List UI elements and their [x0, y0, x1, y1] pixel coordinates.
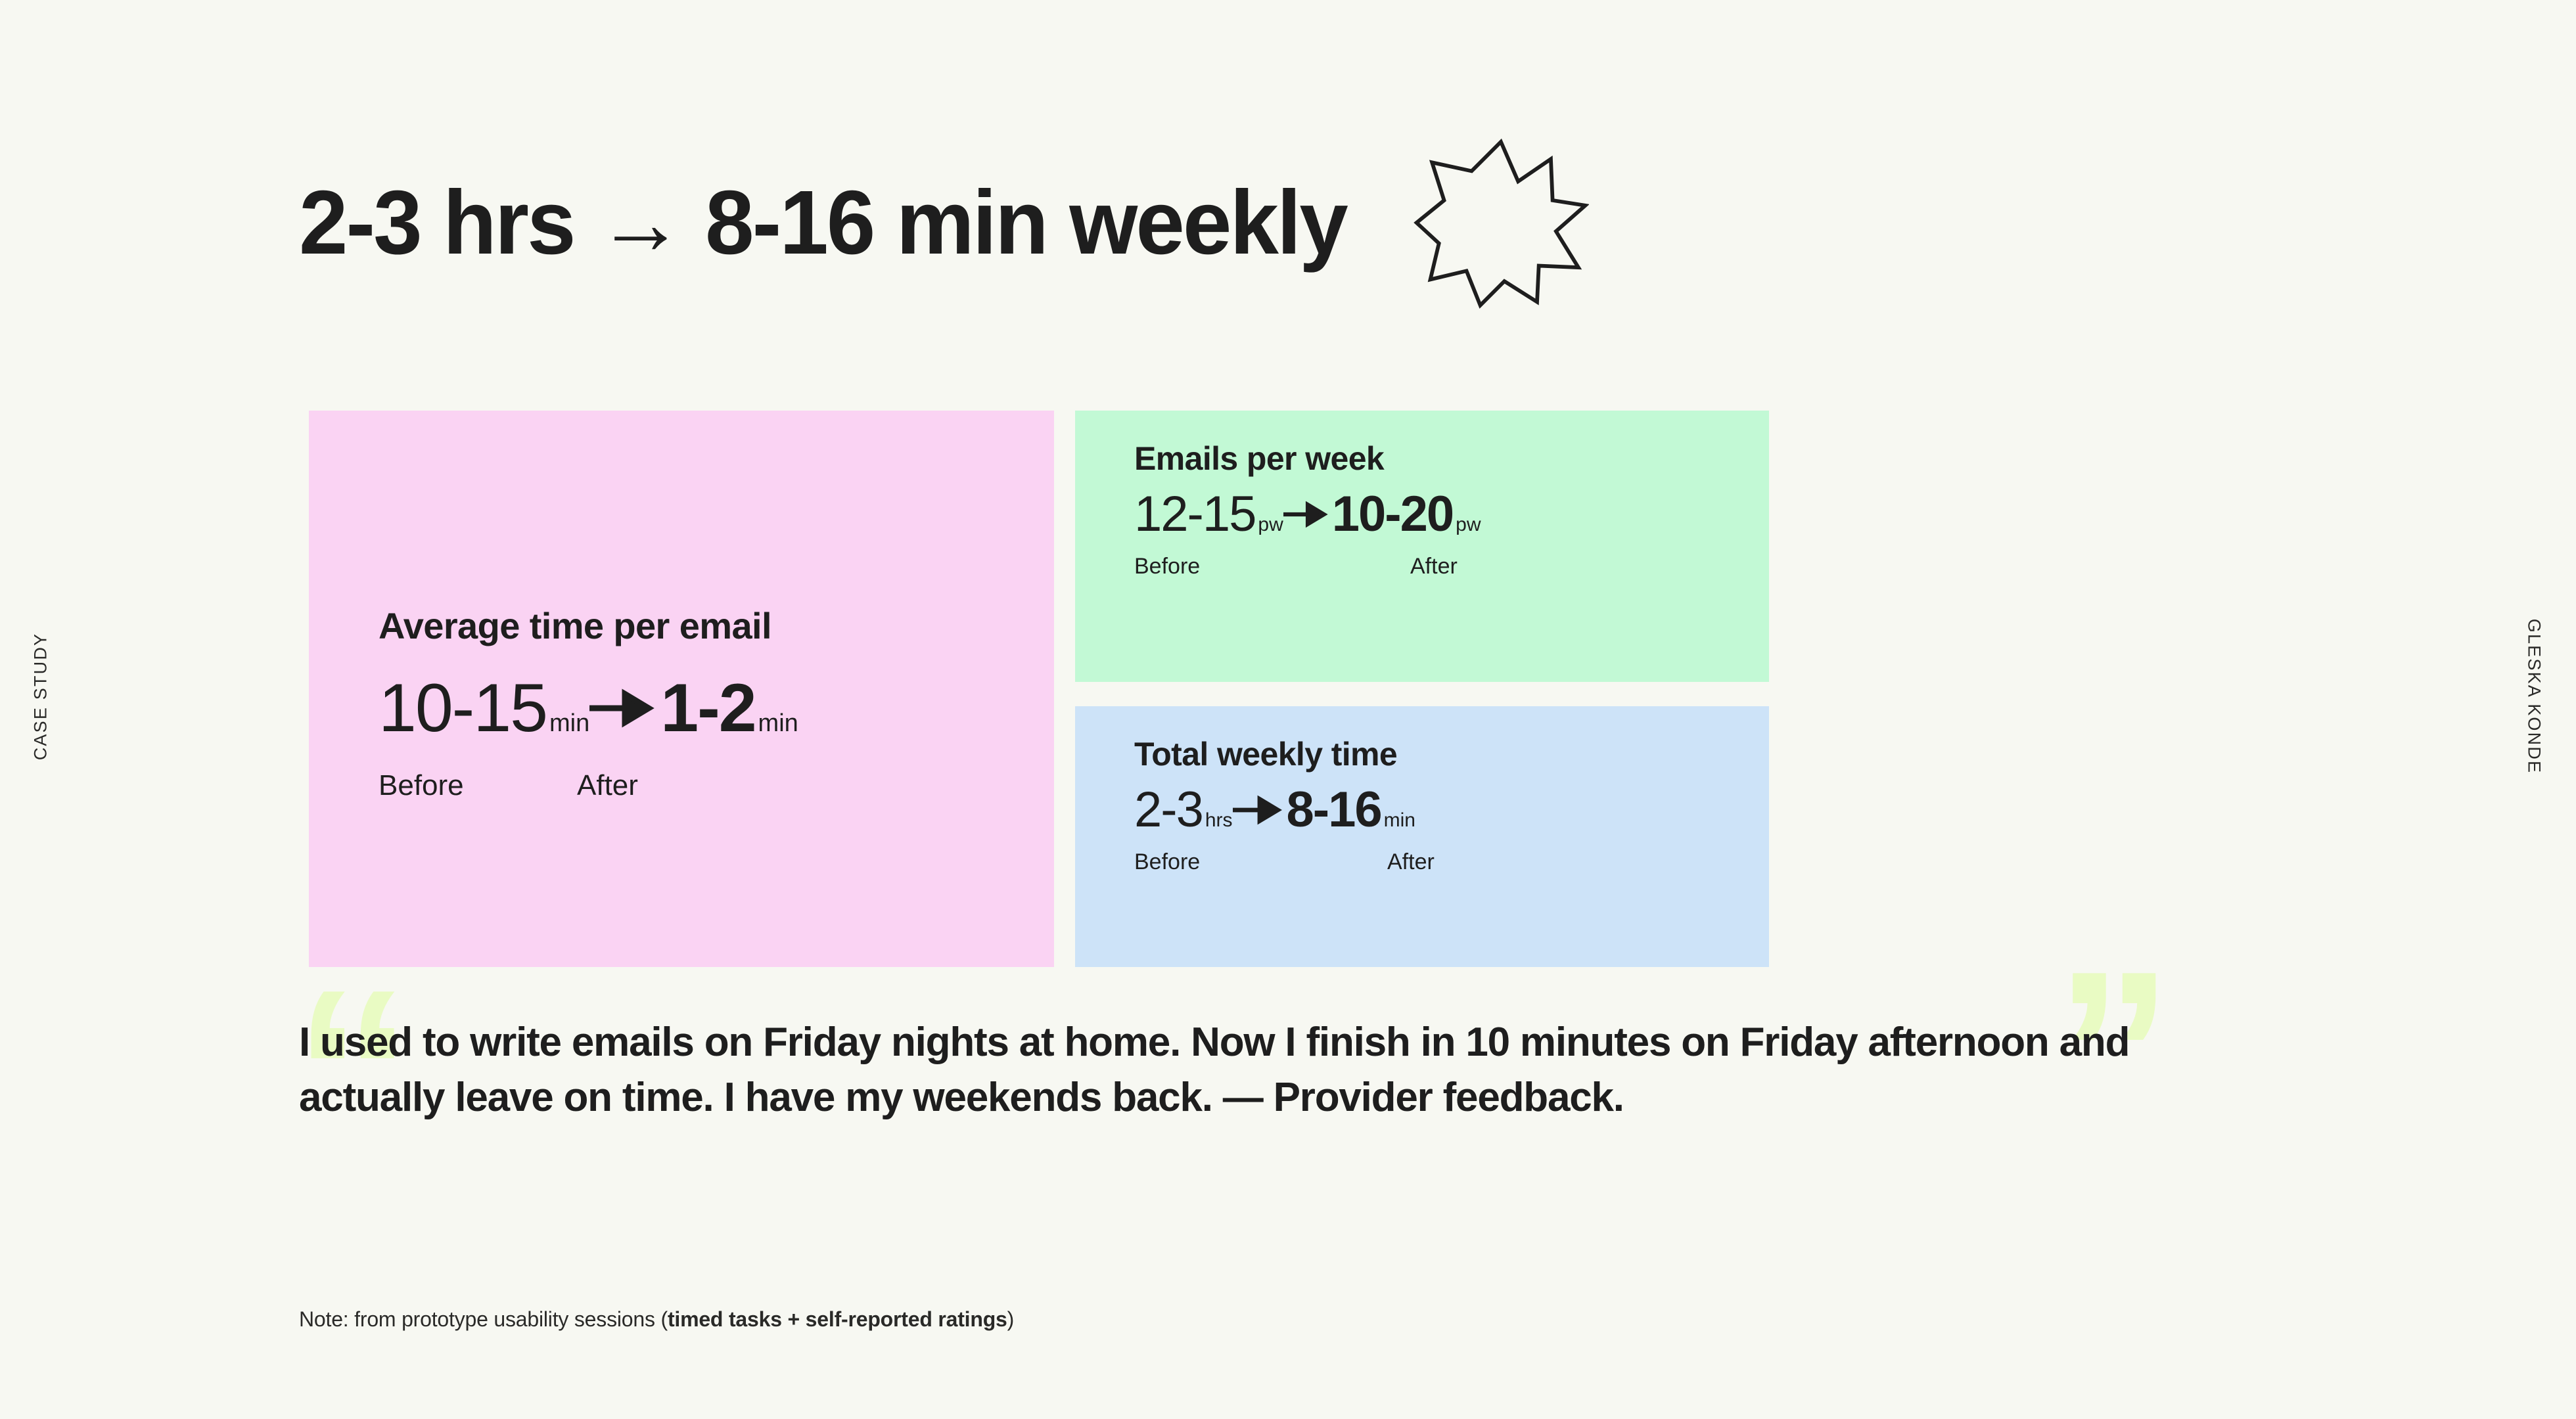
headline: 2-3 hrs → 8-16 min weekly — [299, 137, 1589, 309]
stat-card-total-weekly-time: Total weekly time 2-3 hrs 8-16 min Befor… — [1075, 706, 1769, 967]
stat-label-after: After — [577, 771, 638, 800]
stat-label-row: Before After — [379, 771, 798, 800]
card-title: Total weekly time — [1134, 738, 1435, 771]
stat-before-value: 12-15 — [1134, 491, 1255, 538]
footnote-suffix: ) — [1007, 1307, 1014, 1331]
stat-card-average-time-per-email: Average time per email 10-15 min 1-2 min… — [309, 411, 1054, 967]
arrow-right-icon — [589, 685, 660, 731]
stat-label-row: Before After — [1134, 851, 1435, 873]
side-label-brand: GLESKA KONDE — [2524, 619, 2544, 774]
stat-row: 12-15 pw 10-20 pw — [1134, 491, 1481, 538]
stat-after-unit: pw — [1456, 514, 1481, 536]
stat-before: 2-3 hrs — [1134, 786, 1233, 834]
stat-label-after: After — [1410, 555, 1458, 577]
stat-before-value: 10-15 — [379, 676, 547, 741]
stat-label-before: Before — [1134, 555, 1410, 577]
stat-label-before: Before — [379, 771, 577, 800]
testimonial-quote: “ ” I used to write emails on Friday nig… — [299, 1015, 2310, 1126]
footnote: Note: from prototype usability sessions … — [299, 1307, 1014, 1332]
arrow-right-icon — [1283, 497, 1332, 531]
stat-after: 10-20 pw — [1332, 491, 1481, 538]
card-title: Average time per email — [379, 608, 798, 644]
stat-before-value: 2-3 — [1134, 786, 1203, 834]
stat-before: 10-15 min — [379, 676, 589, 741]
stat-before-unit: pw — [1258, 514, 1283, 536]
stat-after-value: 10-20 — [1332, 491, 1453, 538]
stat-label-before: Before — [1134, 851, 1387, 873]
stat-after-value: 8-16 — [1287, 786, 1381, 834]
stat-after-value: 1-2 — [660, 676, 755, 741]
quote-text: I used to write emails on Friday nights … — [299, 1015, 2270, 1126]
stat-before-unit: min — [549, 709, 589, 738]
ten-point-star-icon — [1413, 137, 1589, 309]
stat-label-row: Before After — [1134, 555, 1481, 577]
stat-label-after: After — [1387, 851, 1435, 873]
stat-row: 10-15 min 1-2 min — [379, 676, 798, 741]
stat-row: 2-3 hrs 8-16 min — [1134, 786, 1435, 834]
stat-after: 8-16 min — [1287, 786, 1415, 834]
stat-before-unit: hrs — [1205, 809, 1233, 832]
footnote-bold: timed tasks + self-reported ratings — [668, 1307, 1007, 1331]
headline-text: 2-3 hrs → 8-16 min weekly — [299, 177, 1346, 268]
stat-before: 12-15 pw — [1134, 491, 1283, 538]
stat-after: 1-2 min — [660, 676, 798, 741]
stat-after-unit: min — [1384, 809, 1415, 832]
arrow-right-icon — [1233, 793, 1287, 827]
stat-after-unit: min — [758, 709, 798, 738]
card-title: Emails per week — [1134, 442, 1481, 475]
footnote-prefix: Note: from prototype usability sessions … — [299, 1307, 668, 1331]
side-label-case-study: CASE STUDY — [31, 633, 51, 761]
stat-card-emails-per-week: Emails per week 12-15 pw 10-20 pw Before… — [1075, 411, 1769, 682]
